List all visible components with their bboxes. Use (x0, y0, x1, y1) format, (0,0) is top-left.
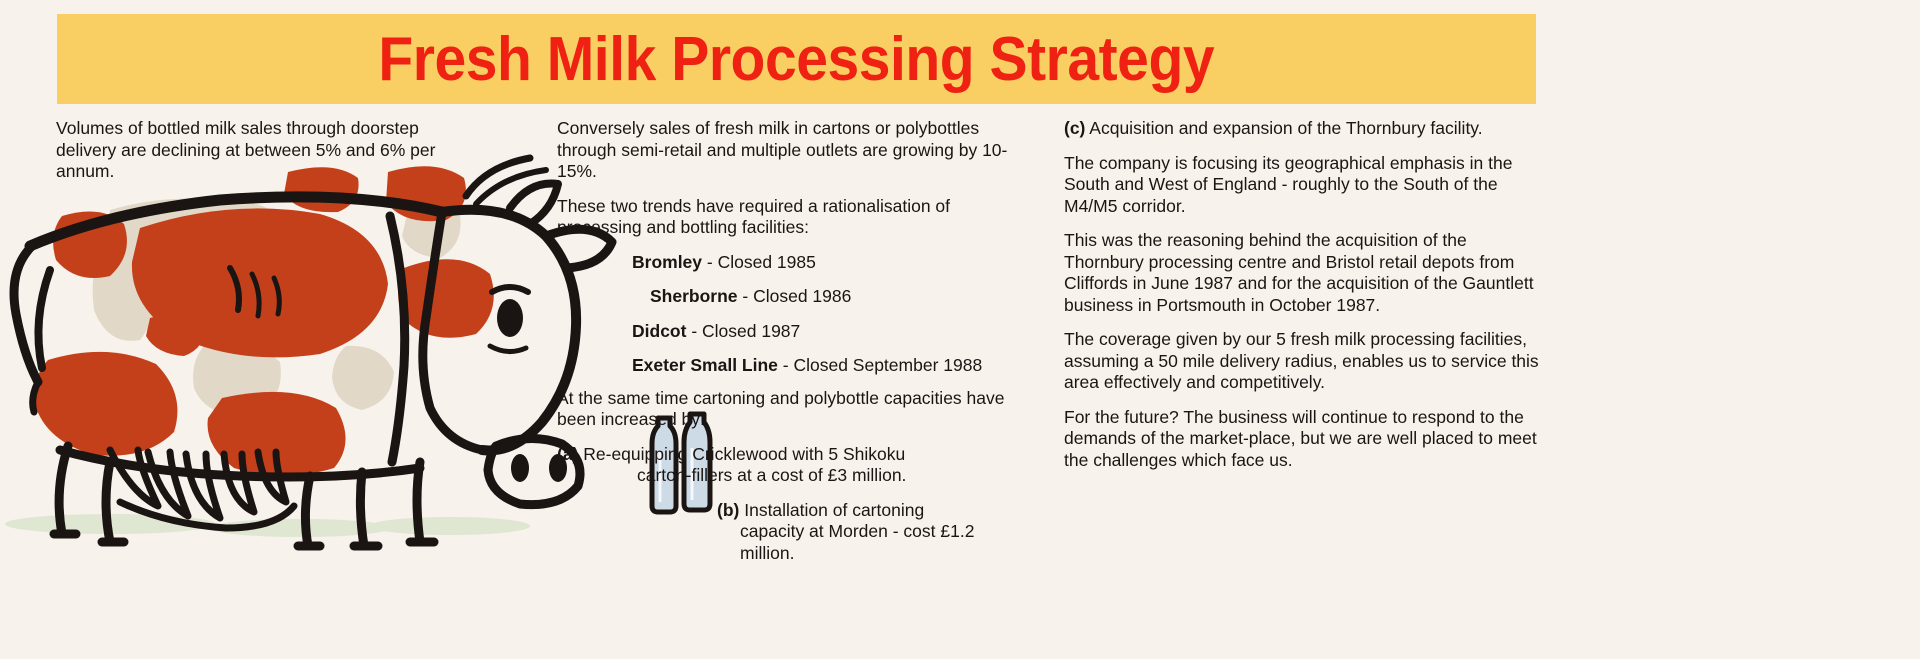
facility-status: - Closed 1985 (702, 252, 816, 272)
facility-status: - Closed September 1988 (778, 355, 982, 375)
facility-name: Sherborne (650, 286, 738, 306)
sub-item-a: (a) Re-equipping Cricklewood with 5 Shik… (557, 444, 1032, 487)
page-banner: Fresh Milk Processing Strategy (57, 14, 1536, 104)
page-title: Fresh Milk Processing Strategy (379, 24, 1215, 95)
facility-name: Didcot (632, 321, 686, 341)
text-column-3: (c) Acquisition and expansion of the Tho… (1064, 118, 1540, 471)
facility-status: - Closed 1986 (738, 286, 852, 306)
sub-item-text: Re-equipping Cricklewood with 5 Shikoku (578, 444, 905, 464)
sub-item-marker: (c) (1064, 118, 1085, 138)
sub-item-marker: (a) (557, 444, 578, 464)
list-item: Sherborne - Closed 1986 (557, 286, 1032, 308)
sub-item-text-cont: carton-fillers at a cost of £3 million. (557, 465, 1032, 487)
sub-item-c: (c) Acquisition and expansion of the Tho… (1064, 118, 1540, 140)
sub-item-marker: (b) (717, 500, 739, 520)
document-page: Fresh Milk Processing Strategy (0, 0, 1920, 659)
paragraph: The company is focusing its geographical… (1064, 153, 1540, 218)
text-column-1: Volumes of bottled milk sales through do… (56, 118, 476, 183)
grass-shadow (0, 500, 620, 545)
sub-item-text: Acquisition and expansion of the Thornbu… (1085, 118, 1482, 138)
paragraph: Conversely sales of fresh milk in carton… (557, 118, 1032, 183)
paragraph: At the same time cartoning and polybottl… (557, 388, 1032, 431)
closure-list: Bromley - Closed 1985 Sherborne - Closed… (557, 252, 1032, 377)
sub-item-text-cont: capacity at Morden - cost £1.2 million. (717, 521, 1032, 564)
facility-name: Bromley (632, 252, 702, 272)
list-item: Bromley - Closed 1985 (557, 252, 1032, 274)
sub-item-text: Installation of cartoning (739, 500, 924, 520)
facility-status: - Closed 1987 (686, 321, 800, 341)
paragraph: This was the reasoning behind the acquis… (1064, 230, 1540, 316)
sub-item-b: (b) Installation of cartoningcapacity at… (557, 500, 1032, 565)
paragraph: Volumes of bottled milk sales through do… (56, 118, 476, 183)
facility-name: Exeter Small Line (632, 355, 778, 375)
paragraph: For the future? The business will contin… (1064, 407, 1540, 472)
paragraph: The coverage given by our 5 fresh milk p… (1064, 329, 1540, 394)
text-column-2: Conversely sales of fresh milk in carton… (557, 118, 1032, 564)
paragraph: These two trends have required a rationa… (557, 196, 1032, 239)
list-item: Didcot - Closed 1987 (557, 321, 1032, 343)
list-item: Exeter Small Line - Closed September 198… (557, 355, 1032, 377)
